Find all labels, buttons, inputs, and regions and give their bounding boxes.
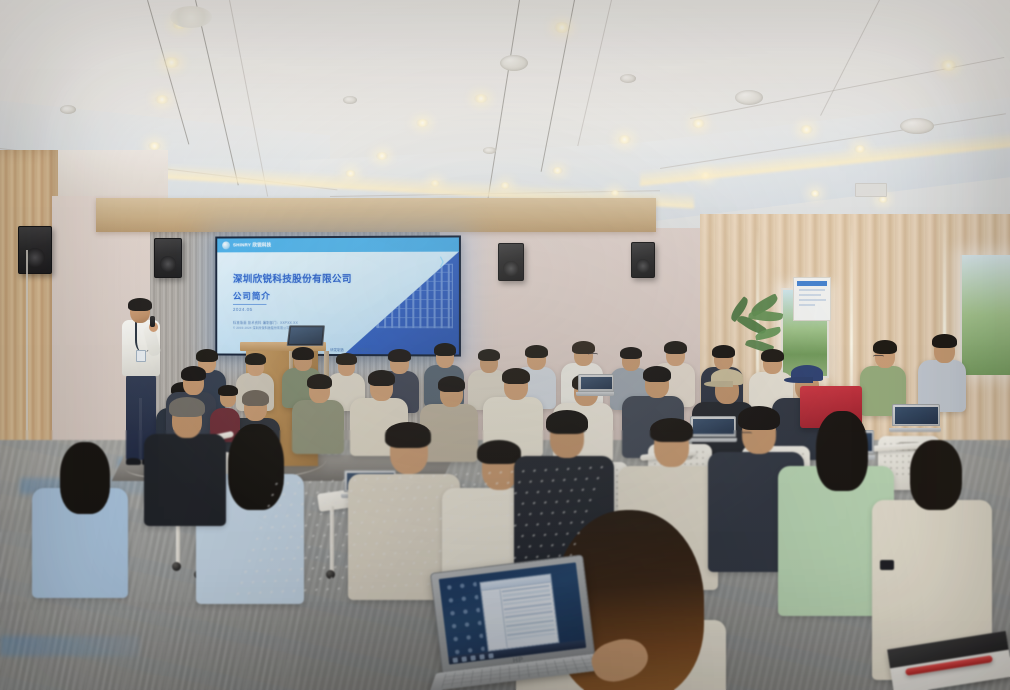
wall-speaker: [498, 243, 524, 281]
podium-laptop: [287, 325, 325, 346]
slide-logo: SHINRY 欣锐科技: [222, 241, 271, 249]
ceiling-seam: [577, 0, 612, 146]
brand-mark-icon: [222, 241, 230, 249]
slide-footer-item: 研发制造: [330, 347, 344, 352]
baseball-cap: [711, 369, 743, 385]
ceiling-speaker: [60, 105, 76, 114]
laptop-screen[interactable]: [439, 562, 586, 664]
downlight: [800, 125, 813, 134]
chair-caster: [172, 562, 181, 571]
ceiling-speaker: [620, 74, 636, 83]
slide-divider: [233, 304, 267, 305]
slide-logo-text: SHINRY 欣锐科技: [233, 242, 271, 248]
downlight: [376, 152, 388, 160]
left-wood-wall: [0, 150, 58, 480]
poster-line: [799, 289, 825, 291]
ceiling-speaker: [170, 6, 212, 28]
downlight: [416, 119, 429, 127]
ceiling-speaker: [483, 147, 496, 154]
audience-laptop[interactable]: [690, 416, 734, 442]
slide-footer-item: 质量保证: [358, 347, 372, 352]
ceiling-speaker: [500, 55, 528, 71]
badge-icon: [136, 350, 146, 362]
slide-subtitle: 公司简介: [233, 290, 271, 302]
wall-speaker: [18, 226, 52, 274]
ceiling-speaker: [900, 118, 934, 134]
wall-speaker: [154, 238, 182, 278]
audience-laptop[interactable]: [892, 404, 938, 432]
audience-laptop[interactable]: [578, 374, 612, 396]
poster-title-bar: [797, 281, 827, 286]
slide-title: 深圳欣锐科技股份有限公司: [233, 271, 352, 285]
ceiling-vent: [855, 183, 887, 197]
ceiling-beam-over-screen: [96, 198, 656, 232]
window: [960, 255, 1010, 375]
downlight: [148, 142, 161, 150]
projection-screen: SHINRY 欣锐科技 〉 深圳欣锐科技股份有限公司 公司简介 2024.05 …: [215, 235, 461, 356]
poster-line: [799, 304, 815, 306]
slide-fine-print: 标准版面 技术资料 编制部门：XXPXX.XX: [233, 320, 298, 325]
downlight: [474, 94, 488, 103]
downlight: [552, 167, 563, 174]
downlight: [692, 119, 705, 128]
downlight: [155, 95, 169, 104]
ceiling-seam: [820, 0, 880, 116]
downlight: [554, 22, 570, 33]
downlight: [878, 196, 888, 203]
downlight: [163, 57, 180, 68]
presentation-slide: SHINRY 欣锐科技 〉 深圳欣锐科技股份有限公司 公司简介 2024.05 …: [217, 237, 459, 354]
downlight: [940, 60, 957, 71]
window-content-rows: [499, 583, 557, 645]
slide-date: 2024.05: [233, 307, 253, 312]
poster-line: [799, 299, 826, 301]
poster-line: [799, 294, 821, 296]
downlight: [810, 190, 820, 197]
baseball-cap: [791, 365, 823, 381]
presenter-hair: [128, 298, 152, 311]
wall-poster: [793, 277, 831, 321]
smartwatch: [880, 560, 894, 570]
ceiling-speaker: [343, 96, 357, 104]
wall-cable: [26, 250, 28, 470]
wall-speaker: [631, 242, 655, 278]
carpet-tile: [0, 610, 300, 690]
application-window[interactable]: [479, 573, 559, 651]
conference-room-photo: SHINRY 欣锐科技 〉 深圳欣锐科技股份有限公司 公司简介 2024.05 …: [0, 0, 1010, 690]
downlight: [618, 135, 631, 144]
product-technical-image: [376, 264, 453, 329]
foreground-laptop[interactable]: HP: [430, 552, 620, 690]
desktop-icons[interactable]: [442, 578, 485, 656]
microphone-icon: [150, 316, 155, 327]
chevron-right-icon: 〉: [440, 254, 449, 270]
ceiling-speaker: [735, 90, 763, 105]
